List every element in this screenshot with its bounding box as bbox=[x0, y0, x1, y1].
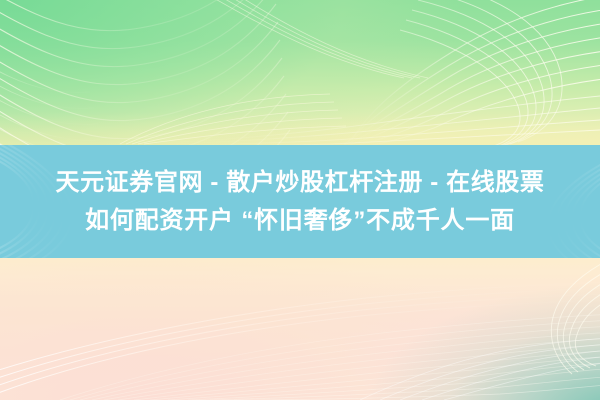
headline-line-1: 天元证券官网 - 散户炒股杠杆注册 - 在线股票 bbox=[55, 165, 544, 201]
headline-band: 天元证券官网 - 散户炒股杠杆注册 - 在线股票 如何配资开户 “怀旧奢侈”不成… bbox=[0, 145, 600, 258]
headline-line-2: 如何配资开户 “怀旧奢侈”不成千人一面 bbox=[85, 203, 515, 239]
headline-text-block: 天元证券官网 - 散户炒股杠杆注册 - 在线股票 如何配资开户 “怀旧奢侈”不成… bbox=[0, 145, 600, 258]
promo-banner: 天元证券官网 - 散户炒股杠杆注册 - 在线股票 如何配资开户 “怀旧奢侈”不成… bbox=[0, 0, 600, 400]
